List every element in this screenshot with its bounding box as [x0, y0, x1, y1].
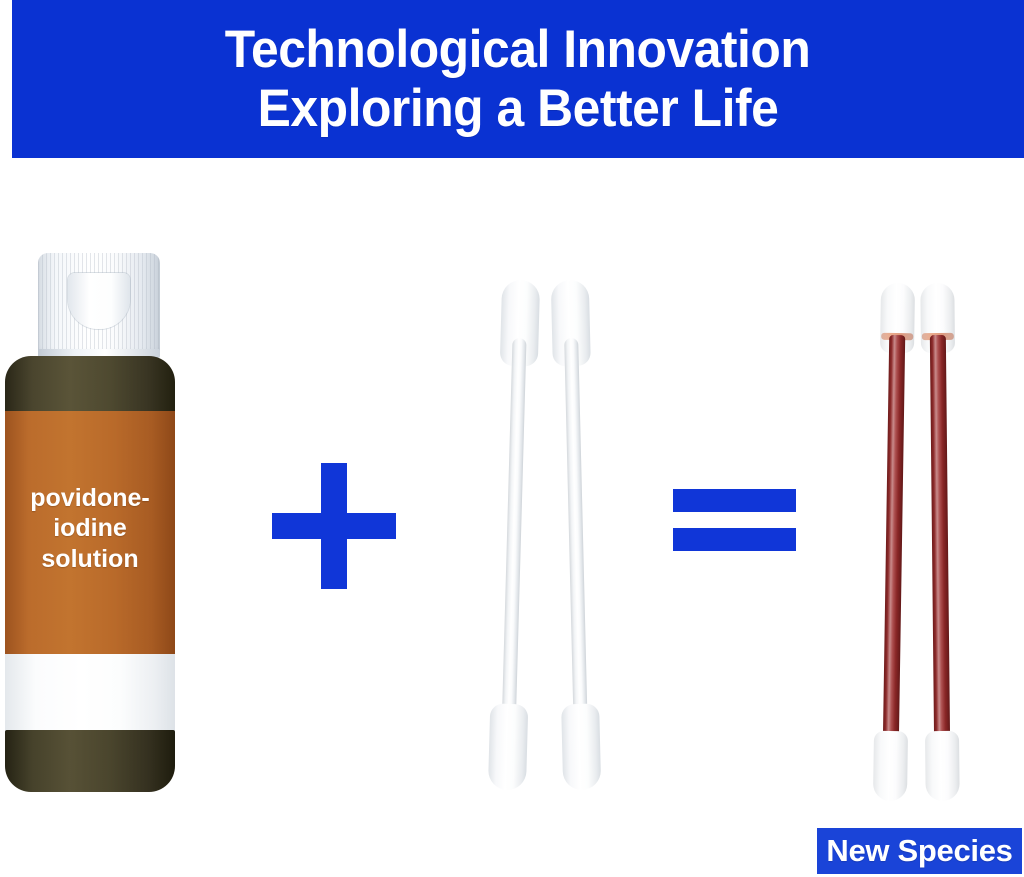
bottle-base: [5, 730, 175, 792]
swab-stick: [501, 338, 526, 738]
bottle-white-band: [5, 654, 175, 732]
swab-tip-bottom: [488, 703, 528, 790]
bottle-cap: [38, 253, 160, 355]
equals-sign-icon: [673, 489, 796, 551]
bottle-label-text: povidone- iodine solution: [30, 483, 149, 575]
swab-tip-bottom: [873, 731, 908, 802]
new-species-label: New Species: [826, 833, 1012, 869]
plus-sign-icon: [272, 463, 396, 589]
swab-stick-iodine: [883, 335, 906, 749]
new-species-badge: New Species: [817, 828, 1022, 874]
bottle-cap-thumb-tab: [68, 273, 130, 329]
white-cotton-swab: [481, 279, 547, 792]
plus-vertical-bar: [321, 463, 347, 589]
povidone-iodine-bottle: povidone- iodine solution: [4, 253, 176, 793]
iodine-swab: [868, 283, 920, 802]
headline-line-2: Exploring a Better Life: [258, 82, 779, 135]
header-banner: Technological Innovation Exploring a Bet…: [12, 0, 1024, 158]
iodine-swab: [915, 283, 964, 801]
swab-tip-bottom: [925, 731, 960, 801]
infographic-canvas: Technological Innovation Exploring a Bet…: [0, 0, 1024, 877]
white-cotton-swab: [544, 279, 608, 792]
swab-tip-bottom: [561, 703, 601, 790]
white-cotton-swabs-group: [470, 280, 630, 800]
swab-stick: [564, 338, 588, 738]
swab-stick-iodine: [930, 335, 950, 749]
headline-line-1: Technological Innovation: [225, 23, 811, 76]
equals-bottom-bar: [673, 528, 796, 551]
equals-top-bar: [673, 489, 796, 512]
bottle-label: povidone- iodine solution: [5, 411, 175, 654]
iodine-swabs-group: [862, 283, 982, 807]
